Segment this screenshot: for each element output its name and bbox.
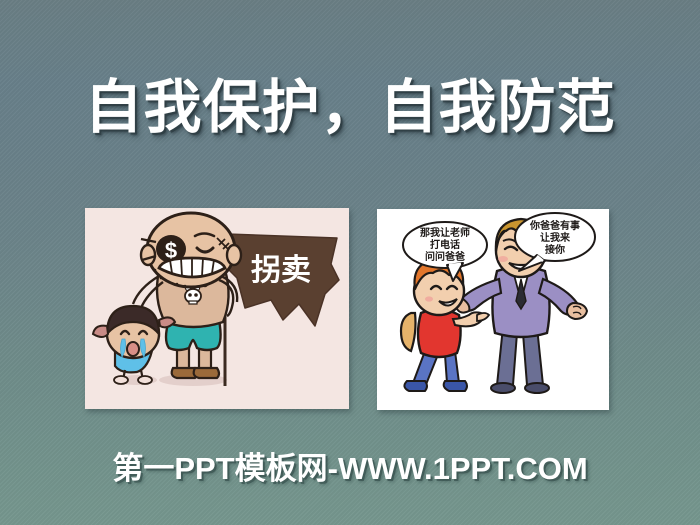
bubble-man-line1: 你爸爸有事 <box>529 219 580 232</box>
illustration-left-trafficking: 拐卖 <box>85 208 349 409</box>
illustration-right-stranger-danger: 那我让老师 打电话 问问爸爸 你爸爸有事 让我来 接你 <box>377 209 609 410</box>
bubble-man-line2: 让我来 <box>540 231 571 244</box>
flag-label: 拐卖 <box>251 254 311 287</box>
page-title: 自我保护，自我防范 <box>0 78 700 139</box>
bubble-man-line3: 接你 <box>545 243 565 256</box>
right-illustration-art: 那我让老师 打电话 问问爸爸 你爸爸有事 让我来 接你 <box>377 209 609 410</box>
footer-watermark: 第一PPT模板网-WWW.1PPT.COM <box>0 443 700 488</box>
left-illustration-art: 拐卖 <box>85 208 349 409</box>
bubble-boy-line1: 那我让老师 <box>420 226 470 239</box>
slide-canvas: 自我保护，自我防范 拐卖 <box>0 0 700 525</box>
bubble-boy-line2: 打电话 <box>430 238 460 251</box>
bubble-boy-line3: 问问爸爸 <box>425 250 465 263</box>
